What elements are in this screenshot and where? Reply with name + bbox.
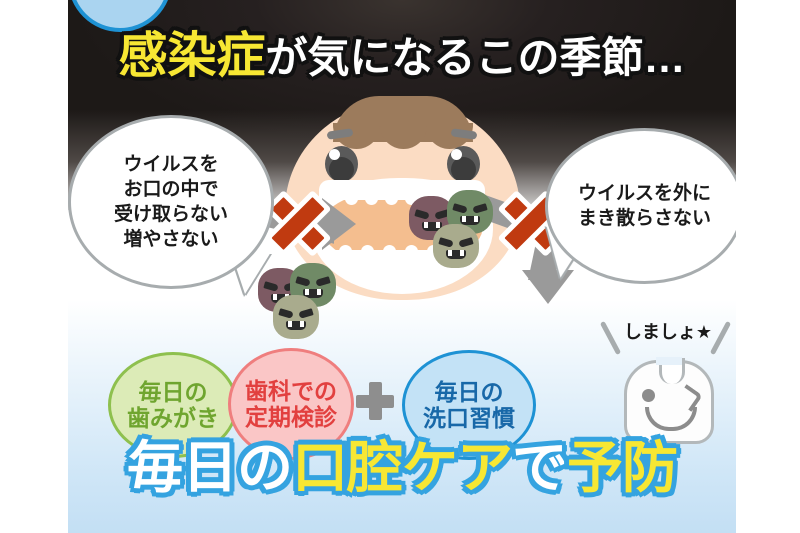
- tooth-mascot: しましょ★: [596, 318, 736, 448]
- page-title: 感染症が気になるこの季節…: [68, 32, 736, 81]
- eye-left: [325, 146, 358, 182]
- care-brushing-line-2: 歯みがき: [127, 405, 219, 431]
- left-bubble-line-2: お口の中で: [114, 177, 228, 202]
- tooth-smile: [645, 407, 697, 431]
- right-bubble-line-1: ウイルスを外に: [578, 181, 711, 206]
- germ-olive-mouth: [433, 224, 479, 268]
- right-speech-bubble: ウイルスを外に まき散らさない: [545, 128, 736, 284]
- title-rest: が気になるこの季節…: [266, 37, 686, 79]
- eye-right: [447, 146, 480, 182]
- care-rinse-line-1: 毎日の: [435, 379, 504, 405]
- left-speech-bubble: ウイルスを お口の中で 受け取らない 増やさない: [68, 115, 274, 289]
- right-bubble-line-2: まき散らさない: [578, 206, 711, 231]
- x-mark-block-incoming: [267, 192, 329, 254]
- care-checkup-line-2: 定期検診: [245, 404, 337, 430]
- tooth-icon: [624, 360, 714, 444]
- infographic-poster: 感染症が気になるこの季節…: [0, 0, 800, 533]
- care-brushing-line-1: 毎日の: [139, 379, 208, 405]
- care-rinse-line-2: 洗口習慣: [423, 405, 515, 431]
- poster-canvas: 感染症が気になるこの季節…: [68, 0, 736, 533]
- mascot-caption: しましょ★: [612, 318, 724, 344]
- left-bubble-line-1: ウイルスを: [114, 152, 228, 177]
- right-bubble-text: ウイルスを外に まき散らさない: [578, 181, 711, 231]
- title-highlight: 感染症: [118, 32, 265, 81]
- slogan-part-2: 口腔ケア: [292, 440, 512, 496]
- slogan-part-1: 毎日の: [127, 440, 292, 496]
- left-bubble-line-3: 受け取らない: [114, 202, 228, 227]
- left-bubble-text: ウイルスを お口の中で 受け取らない 増やさない: [114, 152, 228, 252]
- left-bubble-line-4: 増やさない: [114, 227, 228, 252]
- tooth-eye: [642, 389, 655, 402]
- slogan-part-4: 予防: [567, 440, 677, 496]
- plus-icon: [356, 382, 394, 420]
- germ-olive-outside: [273, 295, 319, 339]
- care-checkup-line-1: 歯科での: [245, 378, 337, 404]
- bottom-slogan: 毎日の口腔ケアで予防: [68, 440, 736, 496]
- slogan-part-3: で: [512, 440, 567, 496]
